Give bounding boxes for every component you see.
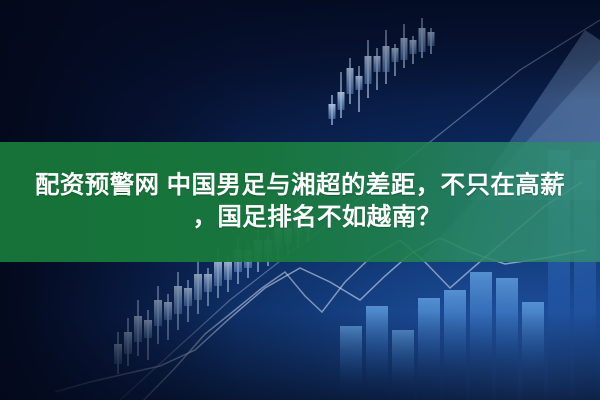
headline-block: 配资预警网 中国男足与湘超的差距，不只在高薪 ，国足排名不如越南？ <box>0 142 600 262</box>
headline-line-1: 配资预警网 中国男足与湘超的差距，不只在高薪 <box>35 170 565 202</box>
stock-banner-image: 配资预警网 中国男足与湘超的差距，不只在高薪 ，国足排名不如越南？ <box>0 0 600 400</box>
green-headline-banner: 配资预警网 中国男足与湘超的差距，不只在高薪 ，国足排名不如越南？ <box>0 142 600 262</box>
headline-line-2: ，国足排名不如越南？ <box>193 202 442 234</box>
